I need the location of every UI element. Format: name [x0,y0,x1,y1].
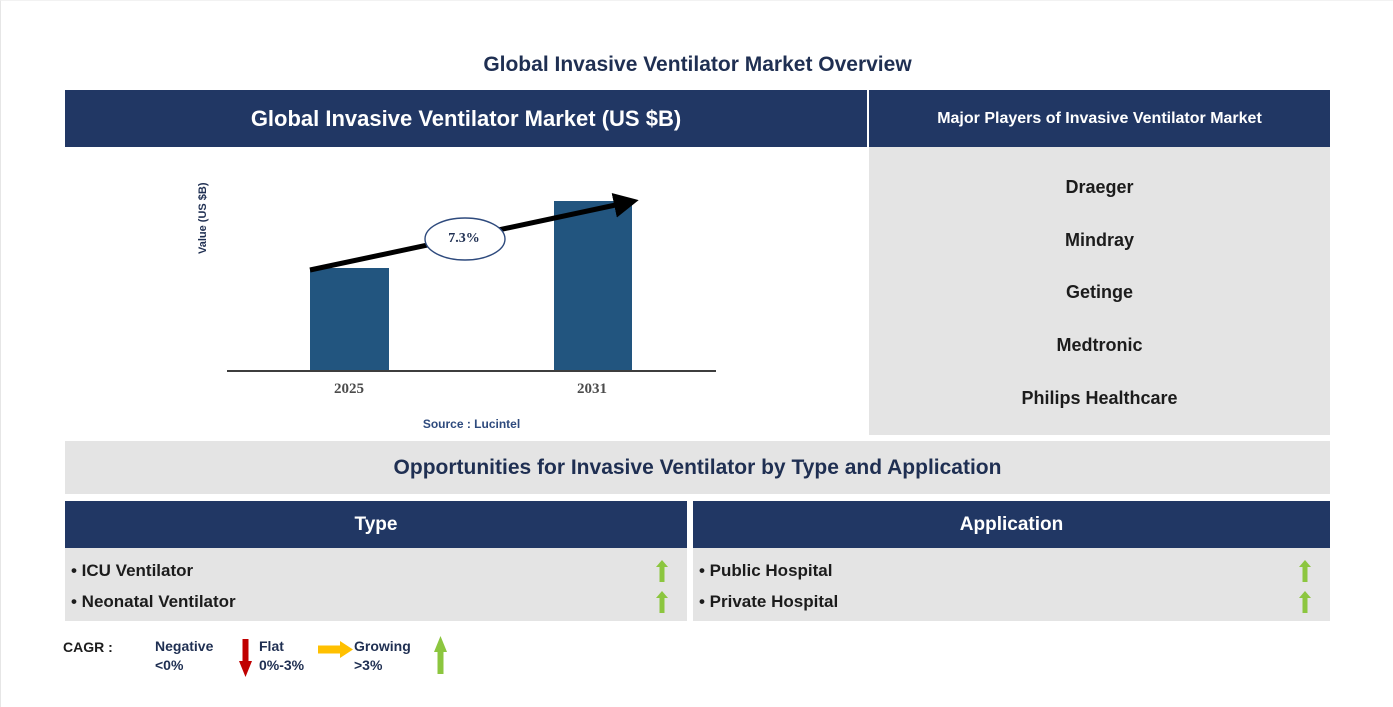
players-panel-header: Major Players of Invasive Ventilator Mar… [869,90,1330,147]
cagr-legend-negative-range: <0% [155,656,213,675]
arrow-down-red-icon [238,637,253,677]
type-panel-header-label: Type [355,514,398,536]
players-panel-header-label: Major Players of Invasive Ventilator Mar… [937,110,1262,128]
list-item: • ICU Ventilator [65,555,687,586]
type-panel-header: Type [65,501,687,548]
application-panel-header-label: Application [960,514,1063,536]
major-players-panel: Major Players of Invasive Ventilator Mar… [869,90,1330,435]
cagr-legend-item-flat: Flat 0%-3% [259,637,304,675]
list-item: Getinge [1066,282,1133,303]
bar-label-2025: 2025 [289,381,409,398]
list-item: Mindray [1065,230,1134,251]
type-row-label: • ICU Ventilator [71,561,193,581]
page-title: Global Invasive Ventilator Market Overvi… [1,53,1393,77]
application-row-label: • Public Hospital [699,561,832,581]
arrow-right-amber-icon [318,640,354,660]
opportunities-title: Opportunities for Invasive Ventilator by… [394,456,1002,480]
chart-y-axis-title: Value (US $B) [197,134,209,254]
cagr-legend: CAGR : Negative <0% Flat 0%-3% Growing >… [63,634,483,682]
type-panel-body: • ICU Ventilator • Neonatal Ventilator [65,548,687,621]
application-panel-body: • Public Hospital • Private Hospital [693,548,1330,621]
list-item: • Private Hospital [693,586,1330,617]
application-panel-header: Application [693,501,1330,548]
type-row-label: • Neonatal Ventilator [71,592,236,612]
list-item: Medtronic [1056,335,1142,356]
cagr-trend-arrow [227,151,716,381]
cagr-legend-growing-name: Growing [354,637,411,656]
players-list: Draeger Mindray Getinge Medtronic Philip… [869,147,1330,435]
cagr-legend-flat-range: 0%-3% [259,656,304,675]
list-item: Draeger [1065,177,1133,198]
arrow-up-green-icon [1298,560,1312,582]
cagr-legend-negative-name: Negative [155,637,213,656]
application-row-label: • Private Hospital [699,592,838,612]
cagr-legend-item-negative: Negative <0% [155,637,213,675]
arrow-up-green-icon [1298,591,1312,613]
application-segment-panel: Application • Public Hospital • Private … [693,501,1330,621]
chart-panel-header: Global Invasive Ventilator Market (US $B… [65,90,867,147]
chart-source-label: Source : Lucintel [227,417,716,431]
cagr-legend-flat-name: Flat [259,637,304,656]
cagr-legend-item-growing: Growing >3% [354,637,411,675]
list-item: Philips Healthcare [1021,388,1177,409]
list-item: • Neonatal Ventilator [65,586,687,617]
list-item: • Public Hospital [693,555,1330,586]
arrow-up-green-icon [655,560,669,582]
arrow-up-green-icon [433,636,448,676]
type-segment-panel: Type • ICU Ventilator • Neonatal Ventila… [65,501,687,621]
arrow-up-green-icon [655,591,669,613]
cagr-legend-title: CAGR : [63,639,113,655]
cagr-bubble-label: 7.3% [425,231,503,247]
opportunities-band: Opportunities for Invasive Ventilator by… [65,441,1330,494]
bar-label-2031: 2031 [532,381,652,398]
chart-panel-header-label: Global Invasive Ventilator Market (US $B… [251,106,681,132]
cagr-legend-growing-range: >3% [354,656,411,675]
